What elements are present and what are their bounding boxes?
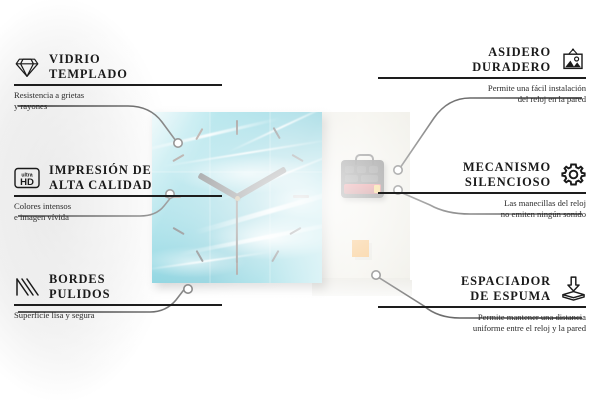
second-hand bbox=[236, 197, 238, 263]
divider-rule bbox=[14, 195, 222, 197]
feature-subtitle: Las manecillas del reloj no emiten ningú… bbox=[378, 198, 586, 221]
feature-title: VIDRIO TEMPLADO bbox=[49, 52, 128, 81]
hand-center-cap bbox=[235, 196, 240, 201]
feature-title: IMPRESIÓN DE ALTA CALIDAD bbox=[49, 163, 152, 192]
feature-espaciador-de-espuma: ESPACIADOR DE ESPUMA Permite mantener un… bbox=[378, 274, 586, 335]
diamond-icon bbox=[14, 55, 40, 79]
foam-spacer bbox=[352, 240, 369, 257]
tick-8 bbox=[172, 227, 184, 236]
feature-title: BORDES PULIDOS bbox=[49, 272, 110, 301]
divider-rule bbox=[14, 84, 222, 86]
feature-title: ASIDERO DURADERO bbox=[472, 45, 551, 74]
divider-rule bbox=[378, 192, 586, 194]
svg-text:HD: HD bbox=[20, 177, 34, 188]
tick-3 bbox=[293, 195, 309, 198]
feature-subtitle: Superficie lisa y segura bbox=[14, 310, 222, 321]
feature-impresion-alta-calidad: ultra HD IMPRESIÓN DE ALTA CALIDAD Color… bbox=[14, 163, 222, 224]
framed-picture-hook-icon bbox=[560, 48, 586, 72]
feature-bordes-pulidos: BORDES PULIDOS Superficie lisa y segura bbox=[14, 272, 222, 321]
feature-subtitle: Permite mantener una distancia uniforme … bbox=[378, 312, 586, 335]
feature-title: MECANISMO SILENCIOSO bbox=[463, 160, 551, 189]
divider-rule bbox=[378, 77, 586, 79]
hanging-hook-icon bbox=[355, 154, 374, 165]
feature-asidero-duradero: ASIDERO DURADERO Permite una fácil insta… bbox=[378, 45, 586, 106]
feature-mecanismo-silencioso: MECANISMO SILENCIOSO Las manecillas del … bbox=[378, 160, 586, 221]
divider-rule bbox=[14, 304, 222, 306]
feature-subtitle: Colores intensos e imagen vívida bbox=[14, 201, 222, 224]
feature-subtitle: Permite una fácil instalación del reloj … bbox=[378, 83, 586, 106]
infographic-canvas: VIDRIO TEMPLADO Resistencia a grietas y … bbox=[0, 0, 600, 400]
arrow-down-pad-icon bbox=[560, 277, 586, 301]
divider-rule bbox=[378, 306, 586, 308]
battery bbox=[344, 184, 381, 194]
polished-edges-icon bbox=[14, 275, 40, 299]
gear-icon bbox=[560, 163, 586, 187]
feature-subtitle: Resistencia a grietas y rayones bbox=[14, 90, 222, 113]
feature-title: ESPACIADOR DE ESPUMA bbox=[461, 274, 551, 303]
feature-vidrio-templado: VIDRIO TEMPLADO Resistencia a grietas y … bbox=[14, 52, 222, 113]
ultra-hd-icon: ultra HD bbox=[14, 166, 40, 190]
tick-5 bbox=[271, 250, 280, 262]
